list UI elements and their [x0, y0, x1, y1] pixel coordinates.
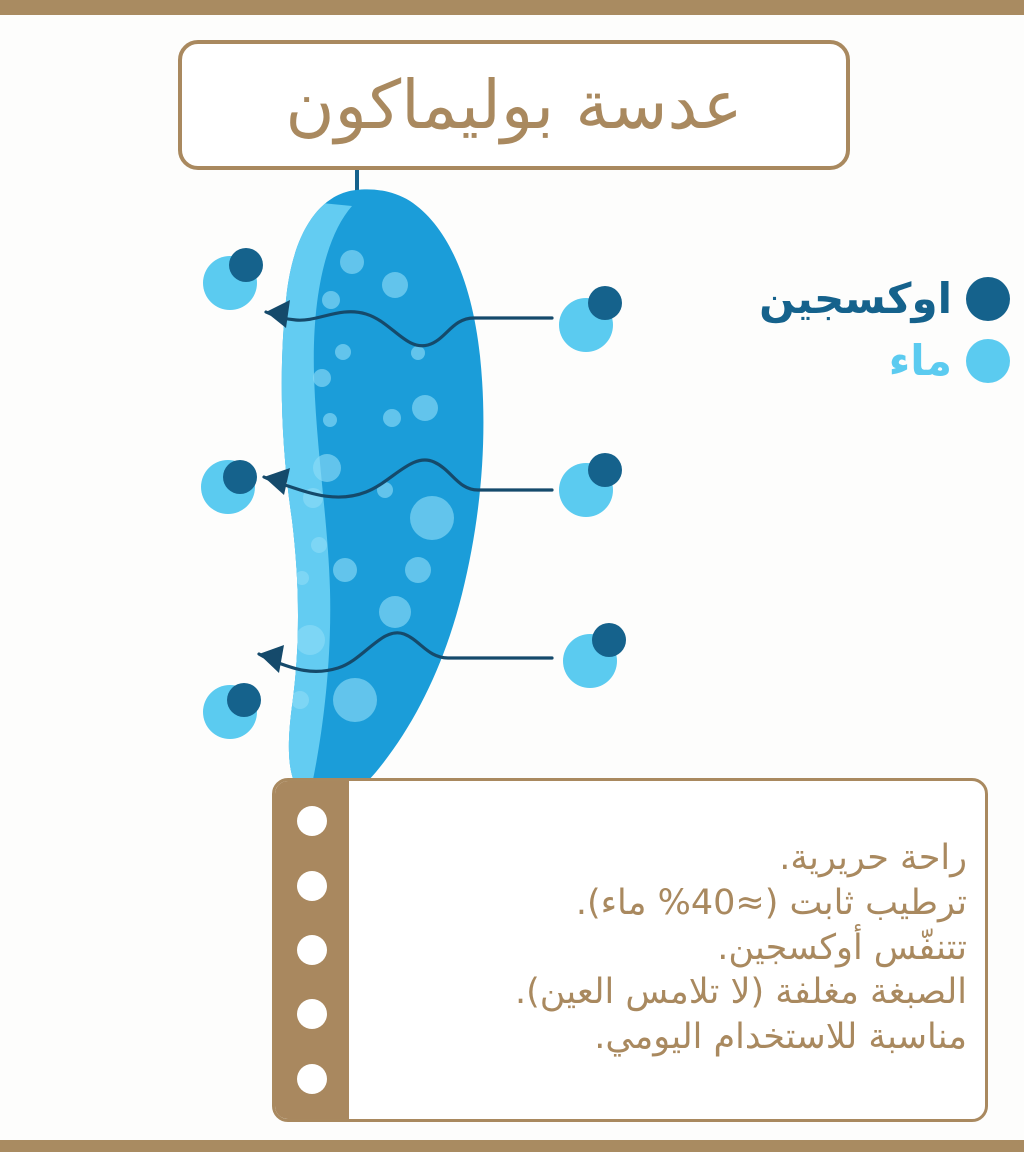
oxygen-molecule: [588, 453, 622, 487]
page-title: عدسة بوليماكون: [285, 72, 742, 139]
oxygen-molecule: [223, 460, 257, 494]
oxygen-molecule: [227, 683, 261, 717]
feature-line-4: الصبغة مغلفة (لا تلامس العين).: [359, 970, 967, 1015]
flow-arrowhead-upper: [266, 300, 290, 328]
feature-line-1: راحة حريرية.: [359, 836, 967, 881]
bullet-hole-2: [297, 871, 327, 901]
feature-line-3: تتنفّس أوكسجين.: [359, 926, 967, 971]
bullet-hole-3: [297, 935, 327, 965]
legend-label-oxygen: اوكسجين: [759, 278, 952, 320]
water-dot-icon: [966, 339, 1010, 383]
title-card: عدسة بوليماكون: [178, 40, 850, 170]
oxygen-molecule: [592, 623, 626, 657]
features-card: راحة حريرية. ترطيب ثابت (≈40% ماء). تتنف…: [272, 778, 988, 1122]
flow-arrowhead-middle: [264, 468, 290, 495]
oxygen-dot-icon: [966, 277, 1010, 321]
legend-label-water: ماء: [889, 340, 952, 382]
feature-line-2: ترطيب ثابت (≈40% ماء).: [359, 881, 967, 926]
feature-line-5: مناسبة للاستخدام اليومي.: [359, 1015, 967, 1060]
molecule-pair-right-2: [559, 453, 622, 517]
bullet-hole-1: [297, 806, 327, 836]
legend-item-water: ماء: [590, 330, 1010, 392]
molecule-pair-right-3: [563, 623, 626, 688]
bullet-hole-5: [297, 1064, 327, 1094]
molecule-pair-left-2: [201, 460, 257, 514]
features-list: راحة حريرية. ترطيب ثابت (≈40% ماء). تتنف…: [349, 781, 985, 1119]
molecule-pair-left-1: [203, 248, 263, 310]
legend: اوكسجين ماء: [590, 268, 1010, 392]
infographic-page: عدسة بوليماكون اوكسجين ماء راحة حريرية. …: [0, 0, 1024, 1152]
bullet-hole-4: [297, 999, 327, 1029]
molecule-pair-left-3: [203, 683, 261, 739]
oxygen-molecule: [229, 248, 263, 282]
flow-arrowhead-lower: [259, 645, 284, 673]
features-bullet-strip: [275, 781, 349, 1119]
legend-item-oxygen: اوكسجين: [590, 268, 1010, 330]
